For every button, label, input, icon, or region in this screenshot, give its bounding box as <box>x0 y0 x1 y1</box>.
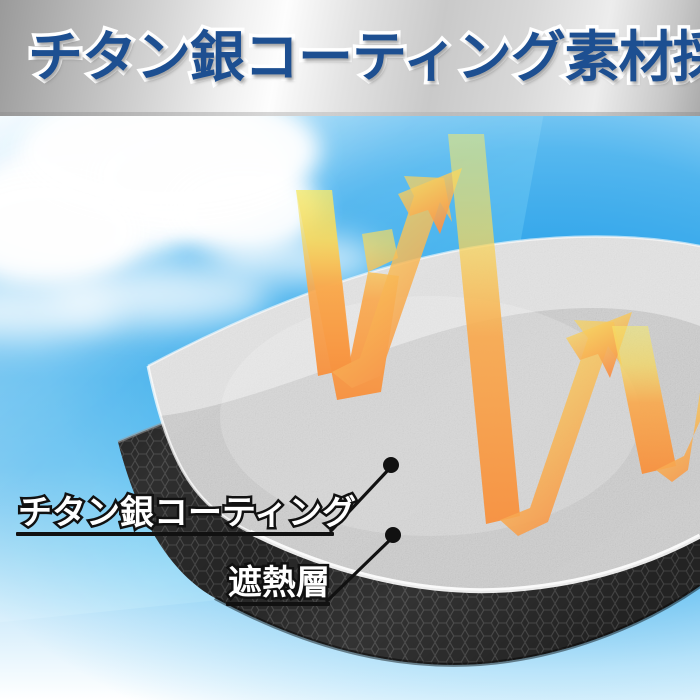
callout-underline-coating <box>16 532 334 536</box>
callout-label-heat-shield: 遮熱層 <box>228 564 330 602</box>
callout-underline-heat-shield <box>226 602 330 606</box>
material-layer-illustration <box>0 116 700 700</box>
header-banner: チタン銀コーティング素材採用 <box>0 0 700 116</box>
illustration-stage: チタン銀コーティング 遮熱層 日焼け、車内の劣化などを防ぎ、 休憩中のプライバシ… <box>0 116 700 700</box>
leader-dot-coating <box>383 457 399 473</box>
callout-label-coating: チタン銀コーティング <box>18 494 356 532</box>
page-title: チタン銀コーティング素材採用 <box>28 26 700 88</box>
promo-banner: チタン銀コーティング素材採用 <box>0 0 700 700</box>
leader-dot-shield <box>385 527 401 543</box>
